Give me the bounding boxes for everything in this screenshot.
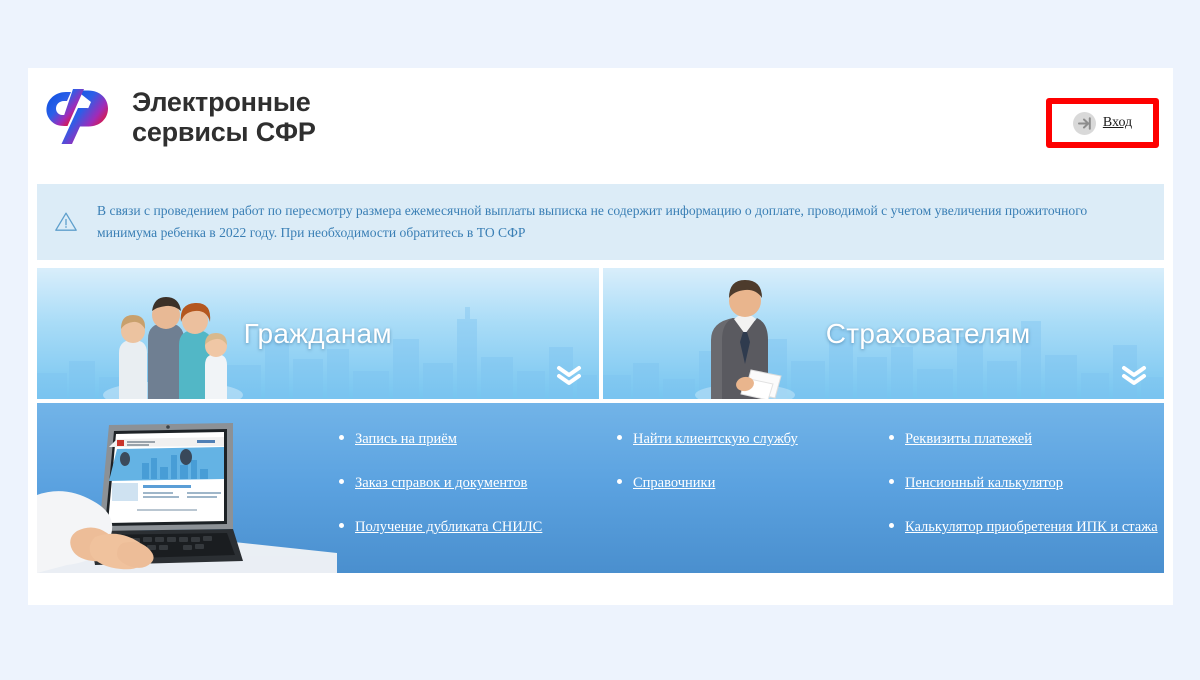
list-item: Заказ справок и документов	[332, 471, 610, 494]
login-annotation-box: Вход	[1046, 98, 1159, 148]
main-card: Электронные сервисы СФР Вход	[28, 68, 1173, 605]
family-photo	[93, 277, 243, 399]
list-item: Запись на приём	[332, 427, 610, 450]
link-snils-duplicate[interactable]: Получение дубликата СНИЛС	[355, 519, 542, 535]
notice-banner: В связи с проведением работ по пересмотр…	[37, 184, 1164, 260]
banner-row: Гражданам	[37, 268, 1164, 399]
link-directories[interactable]: Справочники	[633, 475, 715, 491]
login-label: Вход	[1103, 115, 1132, 131]
link-find-client-service[interactable]: Найти клиентскую службу	[633, 431, 798, 447]
links-column-3: Реквизиты платежей Пенсионный калькулято…	[882, 427, 1162, 573]
double-chevron-down-icon[interactable]	[1120, 363, 1148, 387]
brand: Электронные сервисы СФР	[42, 86, 316, 148]
page-title: Электронные сервисы СФР	[132, 87, 316, 148]
list-item: Справочники	[610, 471, 882, 494]
list-item: Найти клиентскую службу	[610, 427, 882, 450]
login-arrow-icon	[1073, 112, 1096, 135]
banner-citizens[interactable]: Гражданам	[37, 268, 599, 399]
list-item: Реквизиты платежей	[882, 427, 1162, 450]
links-column-2: Найти клиентскую службу Справочники	[610, 427, 882, 573]
list-item: Получение дубликата СНИЛС	[332, 515, 610, 538]
link-ipk-calculator[interactable]: Калькулятор приобретения ИПК и стажа	[905, 519, 1158, 535]
link-order-documents[interactable]: Заказ справок и документов	[355, 475, 527, 491]
links-column-1: Запись на приём Заказ справок и документ…	[332, 427, 610, 573]
list-item: Калькулятор приобретения ИПК и стажа	[882, 515, 1162, 538]
banner-caption: Страхователям	[826, 318, 1031, 350]
login-button[interactable]: Вход	[1073, 112, 1132, 135]
notice-text: В связи с проведением работ по пересмотр…	[97, 200, 1127, 245]
link-pension-calculator[interactable]: Пенсионный калькулятор	[905, 475, 1063, 491]
links-columns: Запись на приём Заказ справок и документ…	[332, 403, 1164, 573]
link-payment-details[interactable]: Реквизиты платежей	[905, 431, 1032, 447]
list-item: Пенсионный калькулятор	[882, 471, 1162, 494]
banner-caption: Гражданам	[244, 318, 392, 350]
banner-insurers[interactable]: Страхователям	[603, 268, 1165, 399]
link-appointment[interactable]: Запись на приём	[355, 431, 457, 447]
double-chevron-down-icon[interactable]	[555, 363, 583, 387]
warning-triangle-icon	[53, 209, 79, 235]
businessman-photo	[693, 274, 798, 399]
sfr-logo-icon	[42, 86, 114, 148]
site-header: Электронные сервисы СФР Вход	[28, 68, 1173, 184]
laptop-hands-photo	[37, 403, 337, 573]
services-links-panel: Запись на приём Заказ справок и документ…	[37, 403, 1164, 573]
